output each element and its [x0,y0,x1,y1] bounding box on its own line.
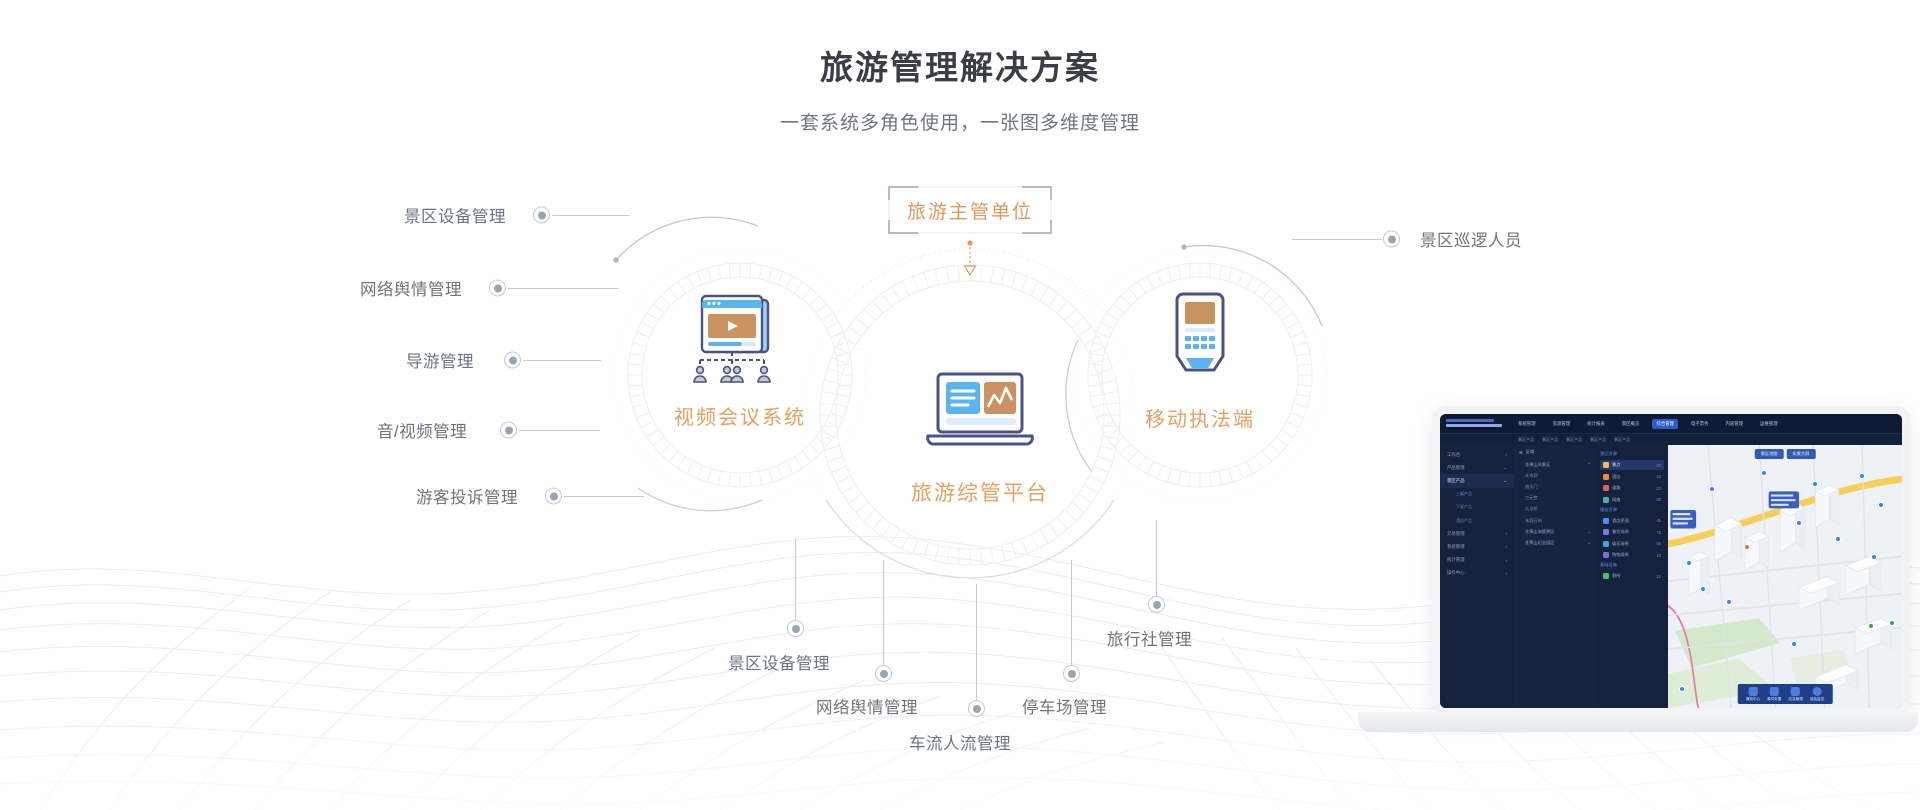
tree-root-label: 花果山风景区 [1525,462,1550,468]
left-dot-1[interactable] [489,280,506,297]
map-view-switch: 景区地图 实景大屏 [1755,449,1816,459]
dashboard-logo [1440,419,1514,429]
nav-item-5[interactable]: 电子票务 [1687,419,1713,429]
map-marker[interactable] [1727,600,1731,604]
video-conference-icon [680,290,800,386]
sidebar-item-6[interactable]: 交易管理› [1440,527,1514,540]
map-view-button-1[interactable]: 实景大屏 [1787,449,1816,459]
bottom-dot-3[interactable] [1063,665,1080,682]
laptop-mockup: 系统管理 资源管理 统计报表 景区概览 综合管理 电子票务 内容管理 运维管理 … [1358,406,1918,806]
category-label-0-0: 景点 [1612,462,1620,468]
swatch-icon [1603,462,1609,468]
left-dot-0[interactable] [533,207,550,224]
category-group-0: 景区资源 [1600,451,1664,457]
nav-item-2[interactable]: 统计报表 [1583,419,1609,429]
tree-item-0[interactable]: 水帘洞 [1519,470,1591,481]
bottom-label-0: 景区设备管理 [728,650,830,674]
right-label-0: 景区巡逻人员 [1420,227,1522,251]
subnav-item-0[interactable]: 景区产品 [1518,437,1534,443]
sidebar-label-5: 酒店产品 [1456,518,1472,524]
arrow-down-icon [960,240,980,280]
node-mobile-enforcement[interactable]: 移动执法端 [1100,288,1300,432]
tree-extra-label-0: 花果山海管景区 [1525,529,1554,535]
left-label-4: 游客投诉管理 [416,484,518,508]
nav-item-1[interactable]: 资源管理 [1549,419,1575,429]
left-dot-2[interactable] [504,352,521,369]
sidebar-label-6: 交易管理 [1447,531,1465,537]
category-count-1-2: 55 [1656,541,1661,546]
map-marker[interactable] [1680,687,1684,691]
handheld-device-icon [1155,288,1245,388]
swatch-icon [1603,529,1609,535]
bottom-label-4: 旅行社管理 [1107,626,1192,650]
sidebar-item-4[interactable]: 下架产品 [1440,501,1514,514]
left-label-3: 音/视频管理 [377,418,467,442]
chevron-down-icon-t0: ⌄ [1587,529,1591,535]
left-dot-4[interactable] [545,488,562,505]
map-marker[interactable] [1687,561,1691,565]
chevron-down-icon-2: ⌄ [1503,478,1507,484]
chevron-up-icon: ⌃ [1587,462,1591,468]
category-item-1-1[interactable]: 餐饮场所78 [1600,527,1664,537]
left-label-0: 景区设备管理 [404,203,506,227]
category-item-0-3[interactable]: 网络58 [1600,495,1664,505]
category-label-1-3: 购物场所 [1612,552,1629,558]
tree-item-3[interactable]: 九龙桥 [1519,504,1591,515]
laptop-body: 系统管理 资源管理 统计报表 景区概览 综合管理 电子票务 内容管理 运维管理 … [1432,406,1910,716]
authority-box[interactable]: 旅游主管单位 [888,186,1052,234]
subnav-item-4[interactable]: 景区产品 [1614,437,1630,443]
bottom-line-2 [976,584,977,700]
category-item-1-2[interactable]: 娱乐场所55 [1600,539,1664,549]
category-item-0-0[interactable]: 景点23 [1600,460,1664,470]
dashboard-nav: 系统管理 资源管理 统计报表 景区概览 综合管理 电子票务 内容管理 运维管理 [1514,419,1782,429]
left-line-3 [519,430,599,431]
tree-item-label-1: 南天门 [1525,484,1538,490]
category-label-1-2: 娱乐场所 [1612,541,1629,547]
sidebar-label-0: 工作台 [1447,452,1460,458]
category-label-1-1: 餐饮场所 [1612,529,1629,535]
map-marker[interactable] [1860,474,1864,478]
category-count-1-3: 18 [1656,553,1661,558]
map-tool-label-1: 事件处置 [1767,697,1781,701]
bottom-label-1: 网络舆情管理 [816,694,918,718]
node-tourism-platform-label: 旅游综管平台 [870,477,1090,507]
map-tool-label-2: 应急管理 [1789,697,1803,701]
dashboard-topbar: 系统管理 资源管理 统计报表 景区概览 综合管理 电子票务 内容管理 运维管理 [1440,414,1902,434]
sidebar-label-7: 系统管理 [1447,544,1465,550]
left-label-2: 导游管理 [406,348,474,372]
bottom-dot-4[interactable] [1148,596,1165,613]
map-tool-1[interactable]: 事件处置 [1767,687,1781,702]
tree-item-2[interactable]: 三元宫 [1519,493,1591,504]
bottom-dot-1[interactable] [875,665,892,682]
nav-item-6[interactable]: 内容管理 [1721,419,1747,429]
laptop-dashboard-icon [914,370,1046,462]
sidebar-item-5[interactable]: 酒店产品 [1440,514,1514,527]
map-canvas [1668,445,1902,708]
map-marker[interactable] [1762,471,1766,475]
category-group-1: 服务资源 [1600,507,1664,513]
subnav-item-1[interactable]: 景区产品 [1542,437,1558,443]
dashboard-subnav: 景区产品 景区产品 景区产品 景区产品 景区产品 [1440,434,1902,445]
sidebar-item-7[interactable]: 系统管理› [1440,540,1514,553]
sidebar-item-3[interactable]: 上架产品 [1440,488,1514,501]
bottom-line-1 [883,560,884,665]
chevron-right-icon-9: › [1506,571,1507,576]
category-item-1-0[interactable]: 酒店民宿45 [1600,516,1664,526]
tree-item-1[interactable]: 南天门 [1519,481,1591,492]
left-line-2 [523,360,601,361]
category-count-0-3: 58 [1656,497,1661,502]
category-count-0-1: 23 [1656,474,1661,479]
nav-item-7[interactable]: 运维管理 [1756,419,1782,429]
nav-item-3[interactable]: 景区概览 [1618,419,1644,429]
chevron-right-icon-0: › [1506,452,1507,457]
tree-item-label-4: 朱庭石刻 [1525,518,1542,524]
bottom-label-2: 车流人流管理 [909,730,1011,754]
tree-extra-0[interactable]: 花果山海管景区⌄ [1519,526,1591,537]
right-line-0 [1292,239,1382,240]
category-group-2: 基础设施 [1600,562,1664,568]
laptop-base [1358,712,1918,732]
swatch-icon [1603,552,1609,558]
node-video-conference[interactable]: 视频会议系统 [640,290,840,430]
map-view-button-0[interactable]: 景区地图 [1755,449,1784,459]
category-count-1-1: 78 [1656,530,1661,535]
swatch-icon [1603,518,1609,524]
dashboard-screen: 系统管理 资源管理 统计报表 景区概览 综合管理 电子票务 内容管理 运维管理 … [1440,414,1902,708]
category-label-0-2: 道路 [1612,485,1620,491]
node-video-conference-label: 视频会议系统 [640,401,840,430]
tree-item-label-0: 水帘洞 [1525,473,1538,479]
map-tool-label-0: 通知中心 [1746,697,1760,701]
sidebar-label-3: 上架产品 [1456,491,1472,497]
authority-label: 旅游主管单位 [907,197,1033,224]
subnav-item-2[interactable]: 景区产品 [1566,437,1582,443]
sidebar-item-9[interactable]: 操作中心› [1440,567,1514,580]
funnel-icon [1770,687,1779,696]
category-item-2-0[interactable]: 厕所12 [1600,571,1664,581]
tree-extra-label-1: 花果山纪念园区 [1525,540,1554,546]
map-toolbar: 通知中心 事件处置 应急管理 巡检监控 [1738,684,1833,704]
bottom-line-3 [1071,560,1072,665]
mirror-icon [1813,687,1822,696]
swatch-icon [1603,573,1609,579]
dashboard-sidebar: 工作台› 产品管理⌄ 景区产品⌄ 上架产品 下架产品 酒店产品 交易管理› 系统… [1440,445,1514,708]
map-marker[interactable] [1879,503,1883,507]
map-tool-label-3: 巡检监控 [1810,697,1824,701]
swatch-icon [1603,497,1609,503]
sidebar-item-2[interactable]: 景区产品⌄ [1440,474,1514,487]
category-count-2-0: 12 [1656,574,1661,579]
chevron-right-icon-6: › [1506,531,1507,536]
dashboard-category-panel: 景区资源 景点23 酒店23 道路23 网络58 服务资源 酒店民宿45 餐饮场… [1596,445,1668,708]
left-line-1 [508,288,618,289]
category-count-0-2: 23 [1656,486,1661,491]
page-subtitle: 一套系统多角色使用，一张图多维度管理 [0,108,1920,135]
tree-root[interactable]: 花果山风景区⌃ [1519,459,1591,470]
left-line-4 [564,496,644,497]
map-tool-3[interactable]: 巡检监控 [1810,687,1824,702]
page-title: 旅游管理解决方案 [0,48,1920,88]
tree-extra-1[interactable]: 花果山纪念园区⌄ [1519,537,1591,548]
sidebar-label-1: 产品管理 [1447,465,1465,471]
left-dot-3[interactable] [500,422,517,439]
page-header: 旅游管理解决方案 一套系统多角色使用，一张图多维度管理 [0,0,1920,135]
category-label-0-1: 酒店 [1612,474,1620,480]
bottom-line-0 [795,538,796,620]
swatch-icon [1603,485,1609,491]
nav-item-0[interactable]: 系统管理 [1514,419,1540,429]
subnav-item-3[interactable]: 景区产品 [1590,437,1606,443]
bottom-label-3: 停车场管理 [1022,694,1107,718]
category-item-0-2[interactable]: 道路23 [1600,483,1664,493]
category-label-1-0: 酒店民宿 [1612,518,1629,524]
tree-header: ☰ 区域 [1519,449,1591,455]
map-tool-0[interactable]: 通知中心 [1746,687,1760,702]
cube-icon [1748,687,1757,696]
bottom-line-4 [1156,520,1157,596]
chevron-right-icon-8: › [1506,558,1507,563]
bottom-dot-0[interactable] [787,620,804,637]
tree-header-label: 区域 [1526,449,1534,455]
swatch-icon [1603,474,1609,480]
category-item-1-3[interactable]: 购物场所18 [1600,550,1664,560]
bottom-dot-2[interactable] [968,700,985,717]
sidebar-label-2: 景区产品 [1447,478,1465,484]
map-marker[interactable] [1813,482,1817,486]
category-label-0-3: 网络 [1612,497,1620,503]
category-count-1-0: 45 [1656,518,1661,523]
category-item-0-1[interactable]: 酒店23 [1600,472,1664,482]
book-icon [1791,687,1800,696]
map-marker[interactable] [1701,587,1705,591]
dashboard-map[interactable]: 景区地图 实景大屏 通知中心 事件处置 应急管理 巡检监控 [1668,445,1902,708]
solution-diagram-page: 旅游管理解决方案 一套系统多角色使用，一张图多维度管理 [0,0,1920,810]
sidebar-label-9: 操作中心 [1447,570,1465,576]
map-marker[interactable] [1797,521,1801,525]
chevron-right-icon-7: › [1506,544,1507,549]
map-tool-2[interactable]: 应急管理 [1789,687,1803,702]
tree-item-label-3: 九龙桥 [1525,506,1538,512]
left-line-0 [552,215,630,216]
chevron-down-icon-t1: ⌄ [1587,540,1591,546]
category-count-0-0: 23 [1656,463,1661,468]
menu-icon: ☰ [1519,450,1523,455]
sidebar-item-1[interactable]: 产品管理⌄ [1440,461,1514,474]
left-label-1: 网络舆情管理 [360,276,462,300]
sidebar-label-8: 统计管理 [1447,557,1465,563]
category-label-2-0: 厕所 [1612,573,1620,579]
node-mobile-enforcement-label: 移动执法端 [1100,403,1300,432]
tree-item-4[interactable]: 朱庭石刻 [1519,515,1591,526]
nav-item-4[interactable]: 综合管理 [1652,419,1678,429]
node-tourism-platform[interactable]: 旅游综管平台 [870,370,1090,507]
chevron-down-icon-1: ⌄ [1503,465,1507,471]
swatch-icon [1603,541,1609,547]
sidebar-label-4: 下架产品 [1456,504,1472,510]
dashboard-main: 工作台› 产品管理⌄ 景区产品⌄ 上架产品 下架产品 酒店产品 交易管理› 系统… [1440,445,1902,708]
sidebar-item-8[interactable]: 统计管理› [1440,554,1514,567]
dashboard-region-tree: ☰ 区域 花果山风景区⌃ 水帘洞 南天门 三元宫 九龙桥 朱庭石刻 花果山海管景… [1514,445,1596,708]
sidebar-item-0[interactable]: 工作台› [1440,448,1514,461]
tree-item-label-2: 三元宫 [1525,495,1538,501]
right-dot-0[interactable] [1383,231,1400,248]
